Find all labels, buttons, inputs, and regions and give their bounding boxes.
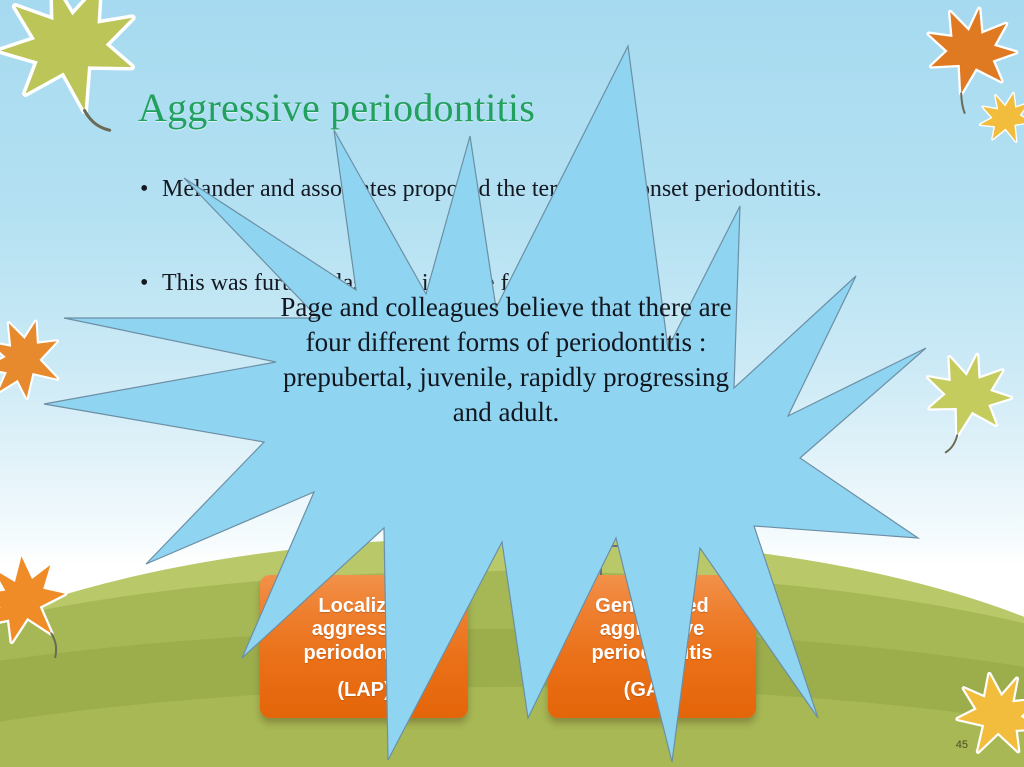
bullet-item-1: • Melander and associates proposed the t… xyxy=(140,174,880,206)
slide-canvas: Aggressive periodontitis • Melander and … xyxy=(0,0,1024,767)
connector-line-gap xyxy=(600,545,662,579)
slide-number: 45 xyxy=(956,739,968,751)
box-gap-line3: periodontitis xyxy=(591,642,712,665)
box-lap-line3: periodontitis xyxy=(303,642,424,665)
bullet-marker: • xyxy=(140,174,148,206)
box-gap-line1: Generalized xyxy=(595,595,708,618)
box-lap-abbr: (LAP) xyxy=(337,679,390,702)
bullet-marker: • xyxy=(140,268,148,300)
box-lap-line1: Localized xyxy=(318,595,409,618)
box-gap-abbr: (GAP) xyxy=(624,679,681,702)
category-box-gap[interactable]: Generalized aggressive periodontitis (GA… xyxy=(548,575,756,718)
bullet-text: This was further classified into the fol… xyxy=(162,268,900,300)
bullet-item-2: • This was further classified into the f… xyxy=(140,268,900,300)
category-box-lap[interactable]: Localized aggressive periodontitis (LAP) xyxy=(260,575,468,718)
bullet-text: Melander and associates proposed the ter… xyxy=(162,174,880,206)
box-gap-line2: aggressive xyxy=(600,618,705,641)
box-lap-line2: aggressive xyxy=(312,618,417,641)
page-title: Aggressive periodontitis xyxy=(138,84,535,131)
